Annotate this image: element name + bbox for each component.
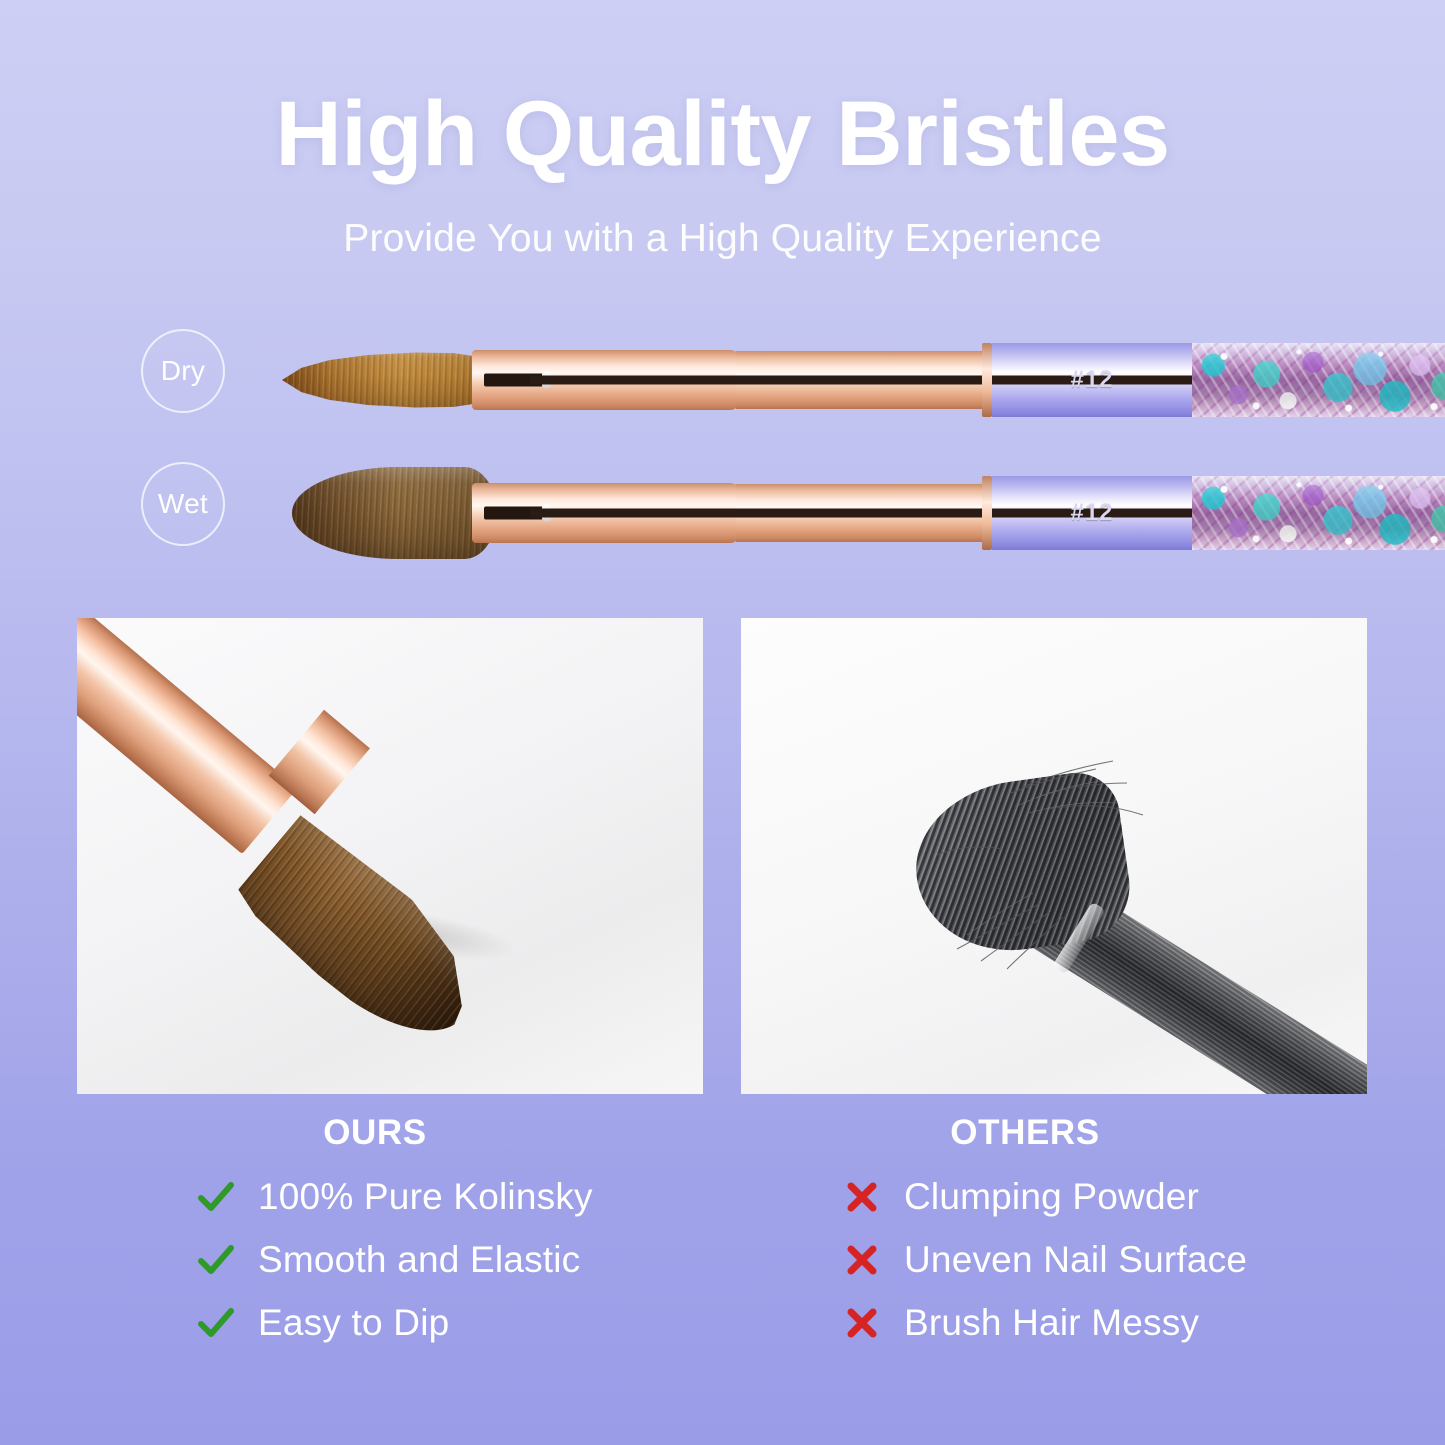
check-icon xyxy=(196,1240,236,1280)
state-badge-wet: Wet xyxy=(141,462,225,546)
list-item: Smooth and Elastic xyxy=(160,1228,720,1291)
shaft-line-dry xyxy=(530,376,990,385)
others-feature-label: Clumping Powder xyxy=(904,1176,1199,1218)
list-item: Brush Hair Messy xyxy=(820,1291,1380,1354)
glitter-handle-wet xyxy=(1192,476,1445,550)
state-badge-wet-label: Wet xyxy=(158,488,208,520)
size-band-dry: #12 xyxy=(992,343,1192,417)
list-item: Uneven Nail Surface xyxy=(820,1228,1380,1291)
others-feature-label: Uneven Nail Surface xyxy=(904,1239,1247,1281)
stray-hairs-icon xyxy=(891,753,1191,983)
comparison-column-others: OTHERS Clumping Powder xyxy=(820,1113,1380,1354)
cross-icon xyxy=(842,1177,882,1217)
state-badge-dry: Dry xyxy=(141,329,225,413)
shaft-line-wet xyxy=(530,509,990,518)
brush-illustration-dry: #12 xyxy=(250,315,1380,445)
state-badge-dry-label: Dry xyxy=(161,355,205,387)
rounded-brush-tip-icon xyxy=(292,467,497,559)
ours-feature-label: Smooth and Elastic xyxy=(258,1239,580,1281)
comparison-column-ours: OURS 100% Pure Kolinsky xyxy=(160,1113,720,1354)
check-icon xyxy=(196,1177,236,1217)
page-title: High Quality Bristles xyxy=(0,86,1445,183)
others-heading: OTHERS xyxy=(820,1113,1380,1153)
product-infographic: High Quality Bristles Provide You with a… xyxy=(0,0,1445,1445)
brush-size-label-dry: #12 xyxy=(992,366,1192,394)
brush-row-wet: Wet #12 xyxy=(0,448,1445,578)
ours-feature-label: Easy to Dip xyxy=(258,1302,449,1344)
others-brush-photo xyxy=(741,618,1367,1094)
ours-brush-photo xyxy=(77,618,703,1094)
page-subtitle: Provide You with a High Quality Experien… xyxy=(0,217,1445,261)
shaft-ring-dry xyxy=(982,343,992,417)
cross-icon xyxy=(842,1240,882,1280)
check-icon xyxy=(196,1303,236,1343)
list-item: Easy to Dip xyxy=(160,1291,720,1354)
ours-feature-label: 100% Pure Kolinsky xyxy=(258,1176,593,1218)
cross-icon xyxy=(842,1303,882,1343)
shaft-ring-wet xyxy=(982,476,992,550)
header: High Quality Bristles Provide You with a… xyxy=(0,86,1445,261)
others-feature-label: Brush Hair Messy xyxy=(904,1302,1199,1344)
others-feature-list: Clumping Powder Uneven Nail Surface xyxy=(820,1165,1380,1354)
list-item: Clumping Powder xyxy=(820,1165,1380,1228)
glitter-handle-dry xyxy=(1192,343,1445,417)
list-item: 100% Pure Kolinsky xyxy=(160,1165,720,1228)
brush-illustration-wet: #12 xyxy=(250,448,1380,578)
ours-feature-list: 100% Pure Kolinsky Smooth and Elastic xyxy=(160,1165,720,1354)
ours-heading: OURS xyxy=(160,1113,720,1153)
brush-size-label-wet: #12 xyxy=(992,499,1192,527)
size-band-wet: #12 xyxy=(992,476,1192,550)
pointed-brush-tip-icon xyxy=(282,348,497,412)
brush-row-dry: Dry #12 xyxy=(0,315,1445,445)
comparison-section: OURS 100% Pure Kolinsky xyxy=(0,1113,1445,1393)
